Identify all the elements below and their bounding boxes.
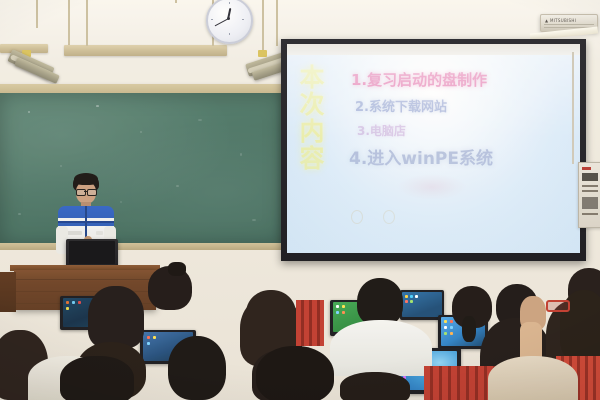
slide-line-1-num: 1. — [351, 71, 367, 89]
teacher-glasses-bridge — [84, 191, 87, 192]
projection-screen: 本次内容 1.复习启动的盘制作 2.系统下载网站 3.电脑店 4.进入winPE… — [287, 44, 580, 253]
student-head-front-2 — [256, 346, 334, 400]
student-monitor-5-screen — [402, 292, 442, 317]
slide-faint-mark-a — [351, 210, 363, 224]
slide-line-1: 1.复习启动的盘制作 — [351, 69, 487, 90]
student-ponytail-back-5 — [462, 316, 476, 342]
student-head-mid-3 — [168, 336, 226, 400]
slide-line-2-text: 系统下载网站 — [369, 100, 447, 115]
student-head-back-4 — [357, 278, 403, 326]
chalkboard-ledge — [0, 243, 285, 250]
podium-side-panel — [0, 272, 16, 312]
student-red-jacket-left — [296, 300, 324, 346]
teacher-glasses-right — [87, 189, 97, 196]
slide-faint-blob — [397, 174, 467, 200]
slide-heading-vertical: 本次内容 — [297, 64, 324, 172]
clock-minute-hand — [214, 18, 228, 26]
student-cream-jacket — [488, 356, 578, 400]
wall-conduit-line — [572, 52, 574, 164]
slide-line-4: 4.进入winPE系统 — [349, 144, 493, 169]
slide-line-4-text: 进入winPE系统 — [367, 149, 493, 169]
slide-line-1-text: 复习启动的盘制作 — [367, 71, 487, 89]
slide-line-3: 3.电脑店 — [357, 122, 406, 139]
slide-line-4-num: 4. — [349, 149, 367, 169]
teacher-hair-top — [74, 173, 98, 185]
green-chalkboard — [0, 93, 285, 245]
light-rod-center-left — [86, 0, 88, 46]
teacher-laptop — [66, 239, 118, 267]
classroom-photo: ▲ MITSUBISHI 本次内容 1.复习启动的盘制作 2.系统下载网站 3 — [0, 0, 600, 400]
projection-screen-frame: 本次内容 1.复习启动的盘制作 2.系统下载网站 3.电脑店 4.进入winPE… — [281, 39, 586, 261]
light-rod-far-left — [175, 0, 177, 3]
student-shirt-back-4 — [330, 320, 432, 376]
screen-top-band — [287, 44, 580, 55]
red-glasses-icon — [546, 300, 570, 312]
student-ponytail-back-1 — [168, 262, 186, 276]
slide-line-2-num: 2. — [355, 100, 369, 115]
slide-line-2: 2.系统下载网站 — [355, 96, 447, 115]
student-head-front-3 — [340, 372, 410, 400]
teacher-jacket-emblem — [96, 231, 103, 235]
slide-line-3-text: 电脑店 — [370, 124, 406, 138]
ceiling-light-bar-center — [64, 45, 227, 56]
student-head-front-1 — [60, 356, 134, 400]
slide-line-3-num: 3. — [357, 124, 370, 138]
student-head-back-2 — [88, 286, 144, 348]
wall-electrical-panel — [578, 162, 600, 228]
slide-faint-mark-b — [383, 210, 395, 224]
